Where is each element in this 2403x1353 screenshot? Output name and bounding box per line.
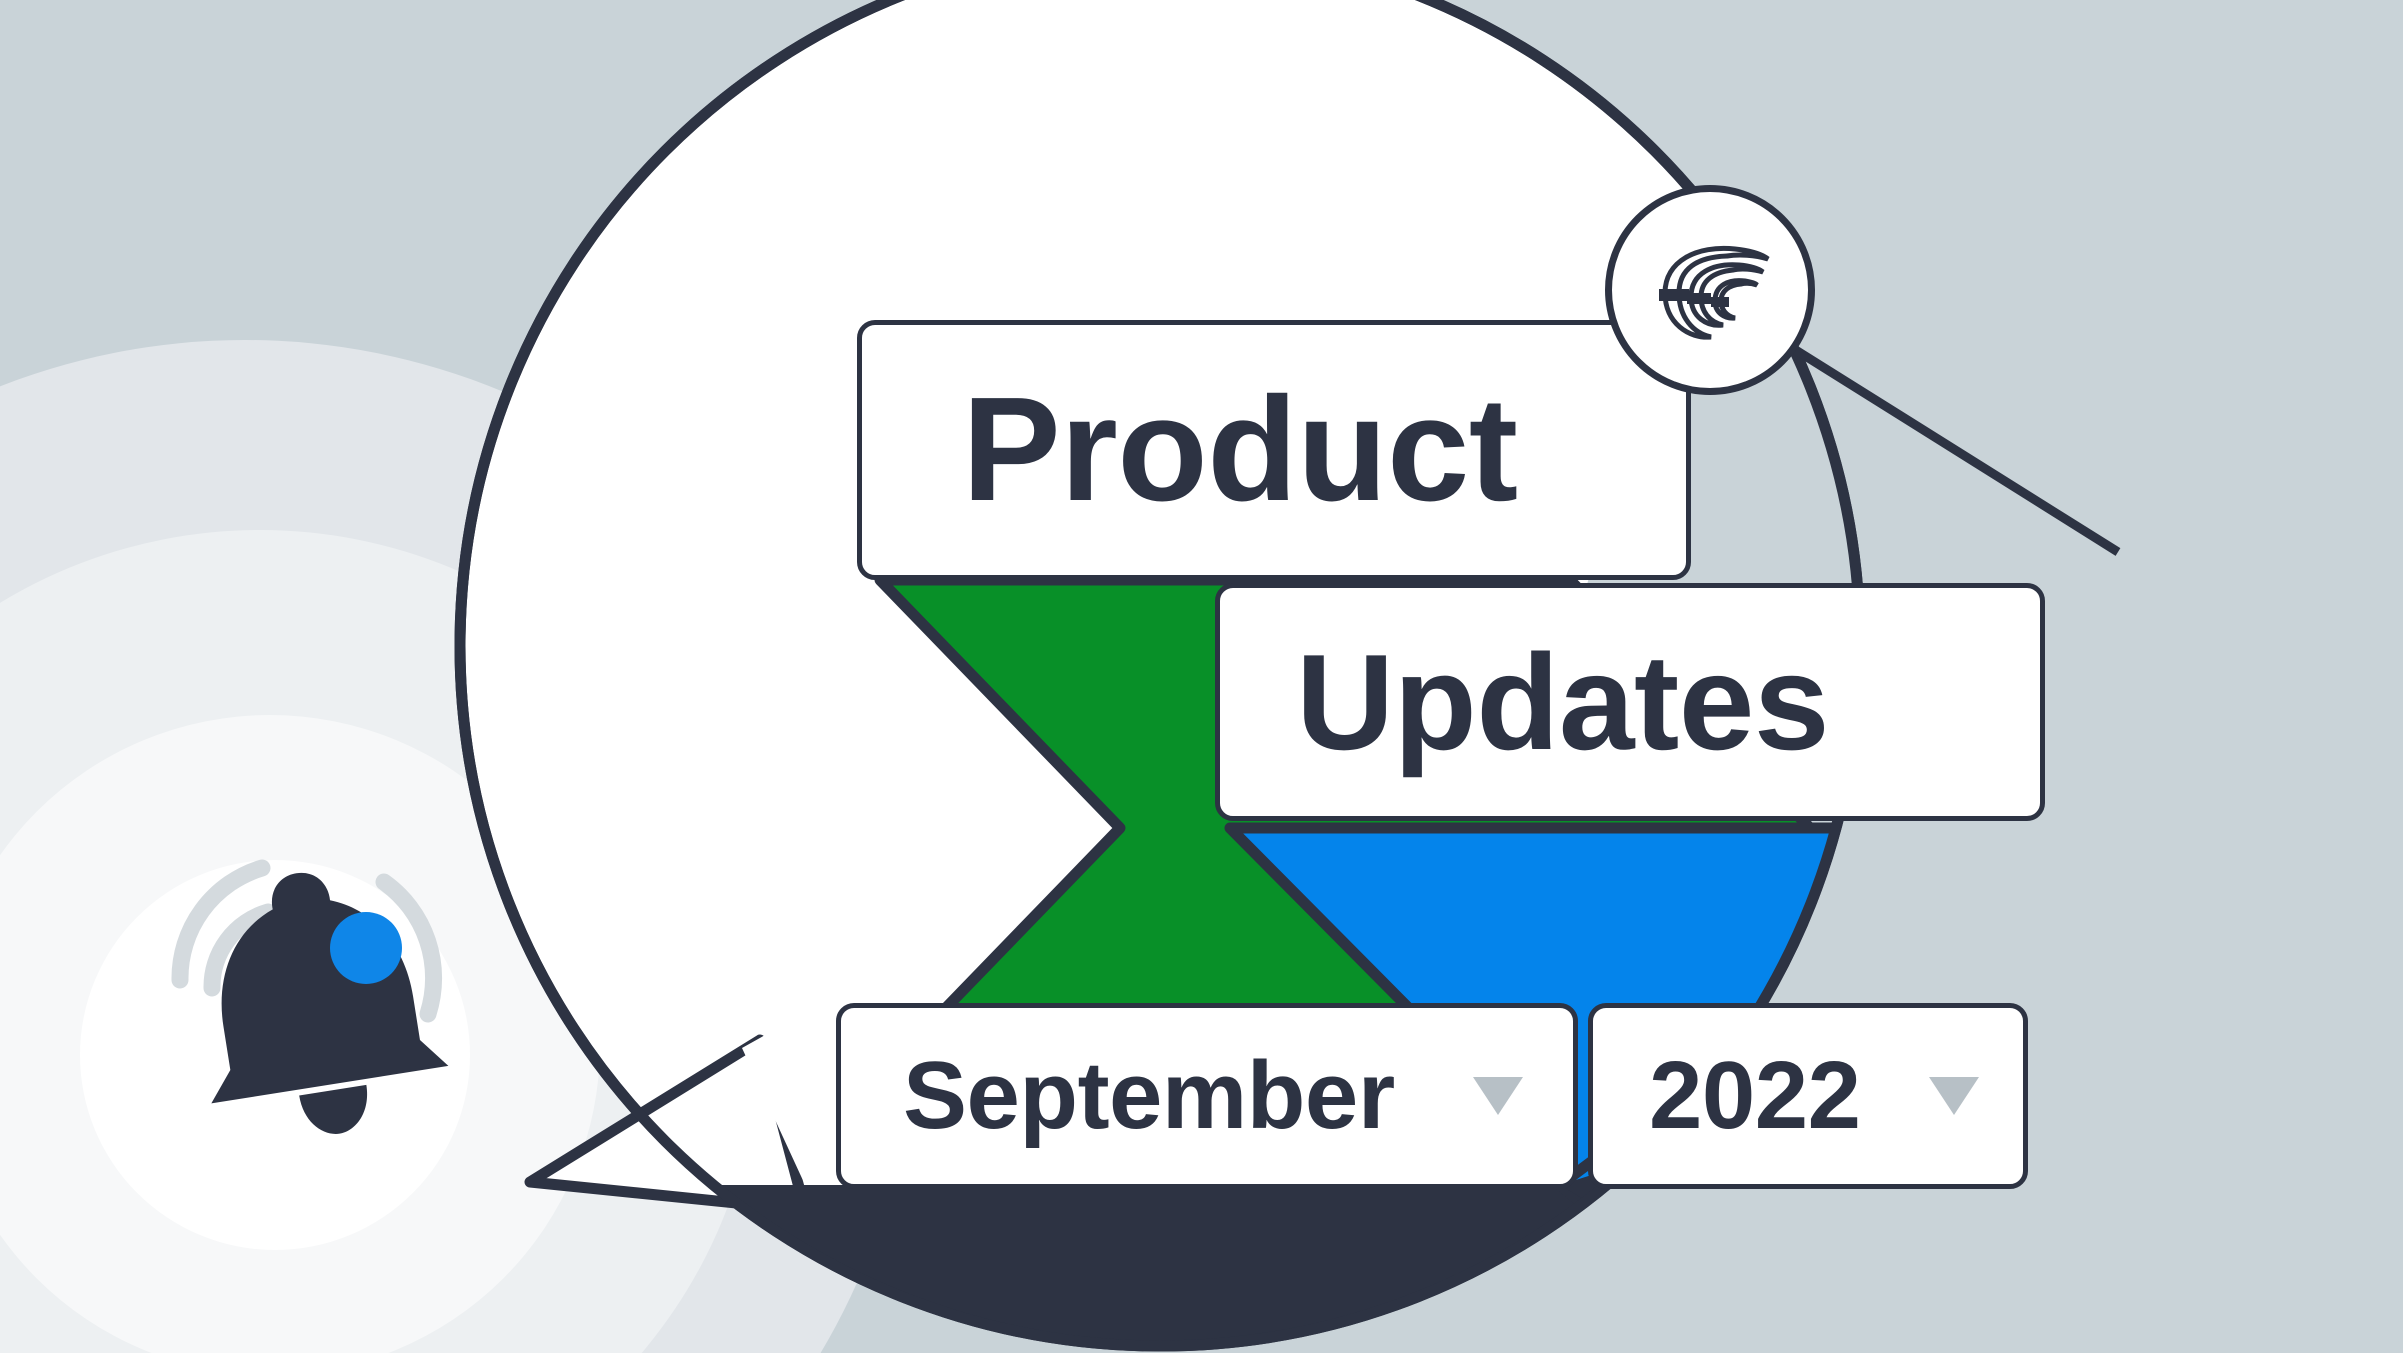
logo-bar-3 (1711, 297, 1729, 307)
headline-chip-product: Product (857, 320, 1691, 580)
logo-bar-1 (1659, 289, 1689, 301)
logo-bar-2 (1687, 293, 1711, 304)
headline-line-2: Updates (1296, 634, 1829, 770)
notification-dot-icon (330, 912, 402, 984)
year-dropdown[interactable]: 2022 (1588, 1003, 2028, 1189)
bell-clapper (299, 1085, 373, 1139)
month-value: September (903, 1048, 1395, 1144)
ringing-bell-icon (150, 820, 490, 1150)
year-value: 2022 (1649, 1048, 1861, 1144)
headline-chip-updates: Updates (1215, 583, 2045, 821)
product-updates-banner: Product Updates September 2022 (0, 0, 2403, 1353)
headline-line-1: Product (962, 376, 1518, 524)
chevron-down-icon (1473, 1077, 1523, 1115)
chevron-down-icon (1929, 1077, 1979, 1115)
wave-swoosh-logo-badge (1605, 185, 1815, 395)
wave-swoosh-logo-icon (1635, 215, 1785, 365)
month-dropdown[interactable]: September (836, 1003, 1578, 1189)
